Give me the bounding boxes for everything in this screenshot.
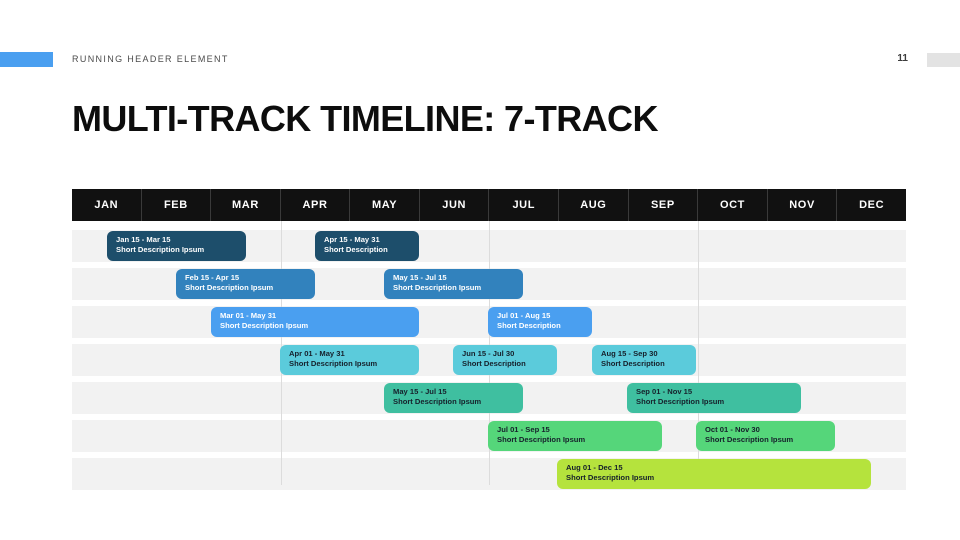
timeline-bar-description: Short Description Ipsum — [393, 283, 523, 293]
month-cell-jan[interactable]: JAN — [72, 189, 142, 221]
timeline-chart: JANFEBMARAPRMAYJUNJULAUGSEPOCTNOVDEC Jan… — [72, 189, 906, 485]
timeline-bar[interactable]: Sep 01 - Nov 15Short Description Ipsum — [627, 383, 801, 413]
month-cell-dec[interactable]: DEC — [837, 189, 906, 221]
month-header-row: JANFEBMARAPRMAYJUNJULAUGSEPOCTNOVDEC — [72, 189, 906, 221]
month-cell-sep[interactable]: SEP — [629, 189, 699, 221]
timeline-bar-description: Short Description Ipsum — [497, 435, 662, 445]
timeline-bar-date: Mar 01 - May 31 — [220, 311, 419, 321]
timeline-bar[interactable]: May 15 - Jul 15Short Description Ipsum — [384, 269, 523, 299]
timeline-bar-description: Short Description Ipsum — [393, 397, 523, 407]
timeline-bar-date: Aug 15 - Sep 30 — [601, 349, 696, 359]
month-cell-jun[interactable]: JUN — [420, 189, 490, 221]
month-cell-nov[interactable]: NOV — [768, 189, 838, 221]
timeline-bar-date: Aug 01 - Dec 15 — [566, 463, 871, 473]
timeline-bar-date: Feb 15 - Apr 15 — [185, 273, 315, 283]
timeline-bar-description: Short Description — [324, 245, 419, 255]
month-cell-jul[interactable]: JUL — [489, 189, 559, 221]
header-accent-bar — [0, 52, 53, 67]
timeline-bar-description: Short Description Ipsum — [185, 283, 315, 293]
timeline-bar[interactable]: Jul 01 - Sep 15Short Description Ipsum — [488, 421, 662, 451]
timeline-bar-date: Oct 01 - Nov 30 — [705, 425, 835, 435]
timeline-bar[interactable]: Feb 15 - Apr 15Short Description Ipsum — [176, 269, 315, 299]
timeline-bar-date: Jul 01 - Sep 15 — [497, 425, 662, 435]
timeline-bar-date: Apr 15 - May 31 — [324, 235, 419, 245]
timeline-bar[interactable]: Oct 01 - Nov 30Short Description Ipsum — [696, 421, 835, 451]
timeline-bar-description: Short Description Ipsum — [289, 359, 419, 369]
timeline-bar-description: Short Description Ipsum — [220, 321, 419, 331]
timeline-bar-date: Jan 15 - Mar 15 — [116, 235, 246, 245]
timeline-track-area: Jan 15 - Mar 15Short Description IpsumAp… — [72, 221, 906, 485]
timeline-bar[interactable]: Apr 15 - May 31Short Description — [315, 231, 419, 261]
timeline-bar[interactable]: Jan 15 - Mar 15Short Description Ipsum — [107, 231, 246, 261]
timeline-bar-date: Jun 15 - Jul 30 — [462, 349, 557, 359]
timeline-bar[interactable]: Jun 15 - Jul 30Short Description — [453, 345, 557, 375]
month-cell-may[interactable]: MAY — [350, 189, 420, 221]
timeline-bar-description: Short Description Ipsum — [116, 245, 246, 255]
timeline-bar[interactable]: May 15 - Jul 15Short Description Ipsum — [384, 383, 523, 413]
timeline-bar-description: Short Description — [497, 321, 592, 331]
timeline-bar[interactable]: Aug 01 - Dec 15Short Description Ipsum — [557, 459, 871, 489]
timeline-bar[interactable]: Aug 15 - Sep 30Short Description — [592, 345, 696, 375]
timeline-bar-description: Short Description — [601, 359, 696, 369]
month-cell-mar[interactable]: MAR — [211, 189, 281, 221]
timeline-bar[interactable]: Apr 01 - May 31Short Description Ipsum — [280, 345, 419, 375]
timeline-bar-date: Sep 01 - Nov 15 — [636, 387, 801, 397]
month-cell-apr[interactable]: APR — [281, 189, 351, 221]
timeline-bar-description: Short Description Ipsum — [566, 473, 871, 483]
timeline-bar-description: Short Description — [462, 359, 557, 369]
running-header-label: RUNNING HEADER ELEMENT — [72, 54, 229, 64]
running-header: RUNNING HEADER ELEMENT 11 — [0, 52, 960, 70]
timeline-bar-description: Short Description Ipsum — [705, 435, 835, 445]
timeline-bar-date: Apr 01 - May 31 — [289, 349, 419, 359]
timeline-bar-date: May 15 - Jul 15 — [393, 387, 523, 397]
timeline-bar-date: Jul 01 - Aug 15 — [497, 311, 592, 321]
page-title: MULTI-TRACK TIMELINE: 7-TRACK — [72, 98, 658, 140]
timeline-bar[interactable]: Mar 01 - May 31Short Description Ipsum — [211, 307, 419, 337]
timeline-bar-description: Short Description Ipsum — [636, 397, 801, 407]
month-cell-aug[interactable]: AUG — [559, 189, 629, 221]
timeline-bar-date: May 15 - Jul 15 — [393, 273, 523, 283]
page-number: 11 — [897, 53, 908, 64]
month-cell-feb[interactable]: FEB — [142, 189, 212, 221]
month-cell-oct[interactable]: OCT — [698, 189, 768, 221]
header-right-block — [927, 53, 960, 67]
timeline-bar[interactable]: Jul 01 - Aug 15Short Description — [488, 307, 592, 337]
